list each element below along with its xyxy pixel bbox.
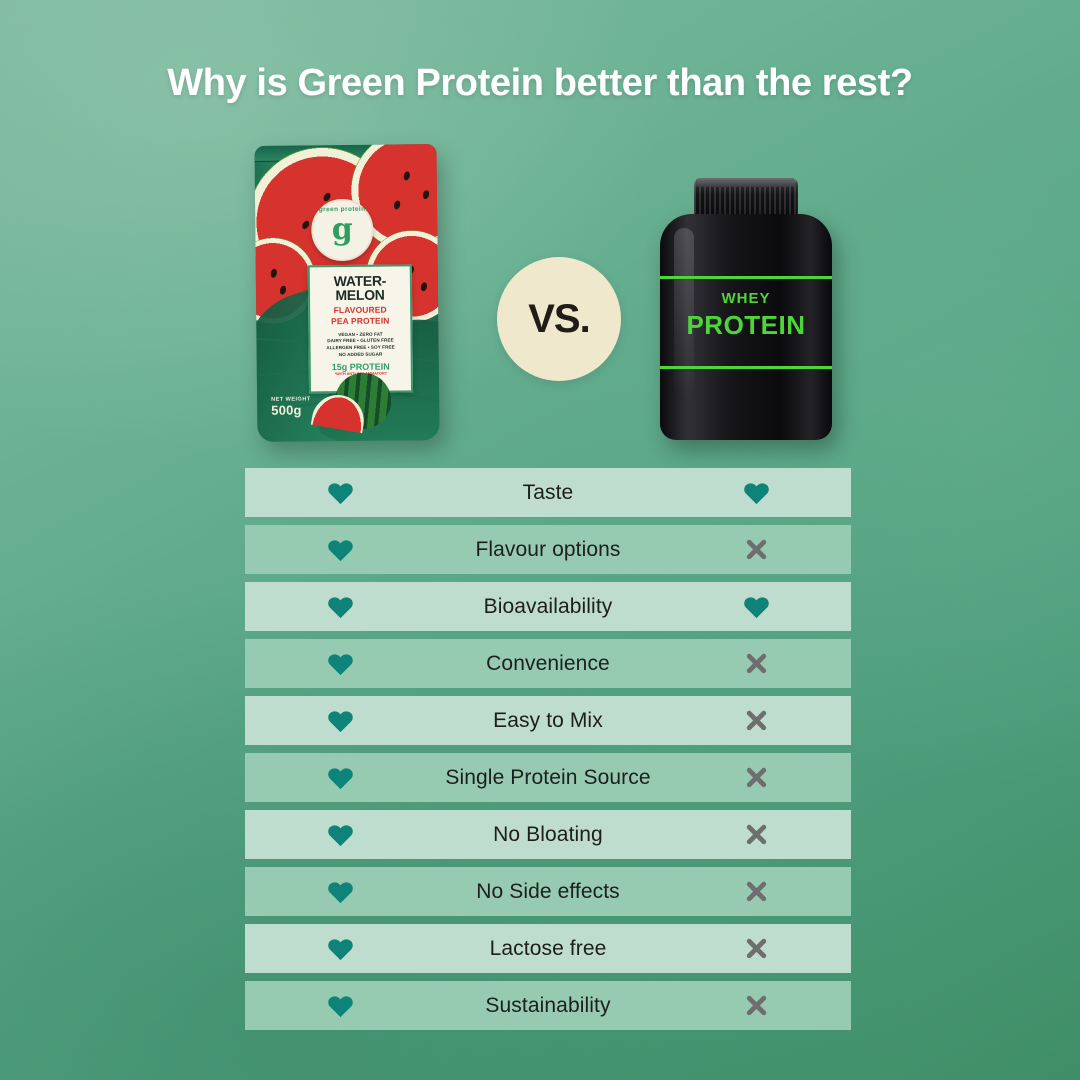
- table-row: Bioavailability: [245, 582, 851, 631]
- feature-label: Taste: [435, 481, 661, 505]
- green-protein-cell: [245, 879, 435, 904]
- table-row: Easy to Mix: [245, 696, 851, 745]
- table-row: Lactose free: [245, 924, 851, 973]
- pouch-label: WATER- MELON FLAVOURED PEA PROTEIN VEGAN…: [308, 264, 413, 393]
- heart-icon: [327, 822, 354, 847]
- x-icon: [744, 993, 769, 1018]
- whey-protein-cell: [661, 936, 851, 961]
- vs-badge: VS.: [497, 257, 621, 381]
- x-icon: [744, 651, 769, 676]
- green-protein-cell: [245, 480, 435, 505]
- pouch-subtitle-line2: PEA PROTEIN: [315, 316, 405, 327]
- x-icon: [744, 879, 769, 904]
- feature-label: Sustainability: [435, 994, 661, 1018]
- green-protein-cell: [245, 765, 435, 790]
- whey-protein-cell: [661, 594, 851, 619]
- whey-protein-cell: [661, 651, 851, 676]
- comparison-infographic: Why is Green Protein better than the res…: [0, 0, 1080, 1080]
- x-icon: [744, 822, 769, 847]
- jar-title-line1: WHEY: [660, 290, 832, 307]
- green-protein-pouch[interactable]: green protein g WATER- MELON FLAVOURED P…: [254, 144, 439, 442]
- table-row: Flavour options: [245, 525, 851, 574]
- green-protein-cell: [245, 822, 435, 847]
- whey-protein-jar[interactable]: WHEY PROTEIN: [660, 178, 832, 440]
- green-protein-logo-badge: green protein g: [311, 199, 374, 262]
- whey-protein-cell: [661, 480, 851, 505]
- whey-protein-cell: [661, 993, 851, 1018]
- feature-label: Single Protein Source: [435, 766, 661, 790]
- green-protein-cell: [245, 708, 435, 733]
- claim-item: NO ADDED SUGAR: [316, 352, 406, 360]
- feature-label: Lactose free: [435, 937, 661, 961]
- table-row: Sustainability: [245, 981, 851, 1030]
- feature-label: Bioavailability: [435, 595, 661, 619]
- jar-stripe-top: [660, 276, 832, 279]
- heart-icon: [327, 480, 354, 505]
- green-protein-cell: [245, 993, 435, 1018]
- heart-icon: [327, 879, 354, 904]
- heart-icon: [327, 594, 354, 619]
- green-protein-cell: [245, 594, 435, 619]
- page-title: Why is Green Protein better than the res…: [0, 62, 1080, 105]
- whey-protein-cell: [661, 879, 851, 904]
- green-protein-cell: [245, 651, 435, 676]
- whey-protein-cell: [661, 822, 851, 847]
- heart-icon: [327, 765, 354, 790]
- vs-label: VS.: [528, 297, 589, 342]
- jar-stripe-bottom: [660, 366, 832, 369]
- feature-label: No Bloating: [435, 823, 661, 847]
- x-icon: [744, 537, 769, 562]
- table-row: Single Protein Source: [245, 753, 851, 802]
- jar-title-line2: PROTEIN: [660, 310, 832, 341]
- whey-protein-cell: [661, 537, 851, 562]
- table-row: Convenience: [245, 639, 851, 688]
- table-row: No Side effects: [245, 867, 851, 916]
- product-comparison-hero: green protein g WATER- MELON FLAVOURED P…: [0, 140, 1080, 460]
- comparison-table: Taste Flavour options Bioavailability Co…: [245, 468, 851, 1038]
- net-weight-value: 500g: [271, 402, 311, 417]
- feature-label: Convenience: [435, 652, 661, 676]
- brand-badge-text: green protein: [313, 206, 371, 214]
- heart-icon: [743, 594, 770, 619]
- brand-logo-letter: g: [332, 215, 353, 245]
- table-row: Taste: [245, 468, 851, 517]
- heart-icon: [327, 651, 354, 676]
- pouch-subtitle-line1: FLAVOURED: [315, 305, 405, 316]
- feature-label: No Side effects: [435, 880, 661, 904]
- x-icon: [744, 765, 769, 790]
- whey-protein-cell: [661, 708, 851, 733]
- feature-label: Easy to Mix: [435, 709, 661, 733]
- x-icon: [744, 708, 769, 733]
- green-protein-cell: [245, 537, 435, 562]
- table-row: No Bloating: [245, 810, 851, 859]
- pouch-claims: VEGAN • ZERO FAT DAIRY FREE • GLUTEN FRE…: [315, 331, 405, 360]
- x-icon: [744, 936, 769, 961]
- heart-icon: [743, 480, 770, 505]
- heart-icon: [327, 537, 354, 562]
- whey-protein-cell: [661, 765, 851, 790]
- net-weight-block: NET WEIGHT 500g: [271, 396, 311, 417]
- feature-label: Flavour options: [435, 538, 661, 562]
- heart-icon: [327, 936, 354, 961]
- green-protein-cell: [245, 936, 435, 961]
- heart-icon: [327, 708, 354, 733]
- heart-icon: [327, 993, 354, 1018]
- pouch-title-line2: MELON: [315, 287, 405, 302]
- jar-body: WHEY PROTEIN: [660, 214, 832, 440]
